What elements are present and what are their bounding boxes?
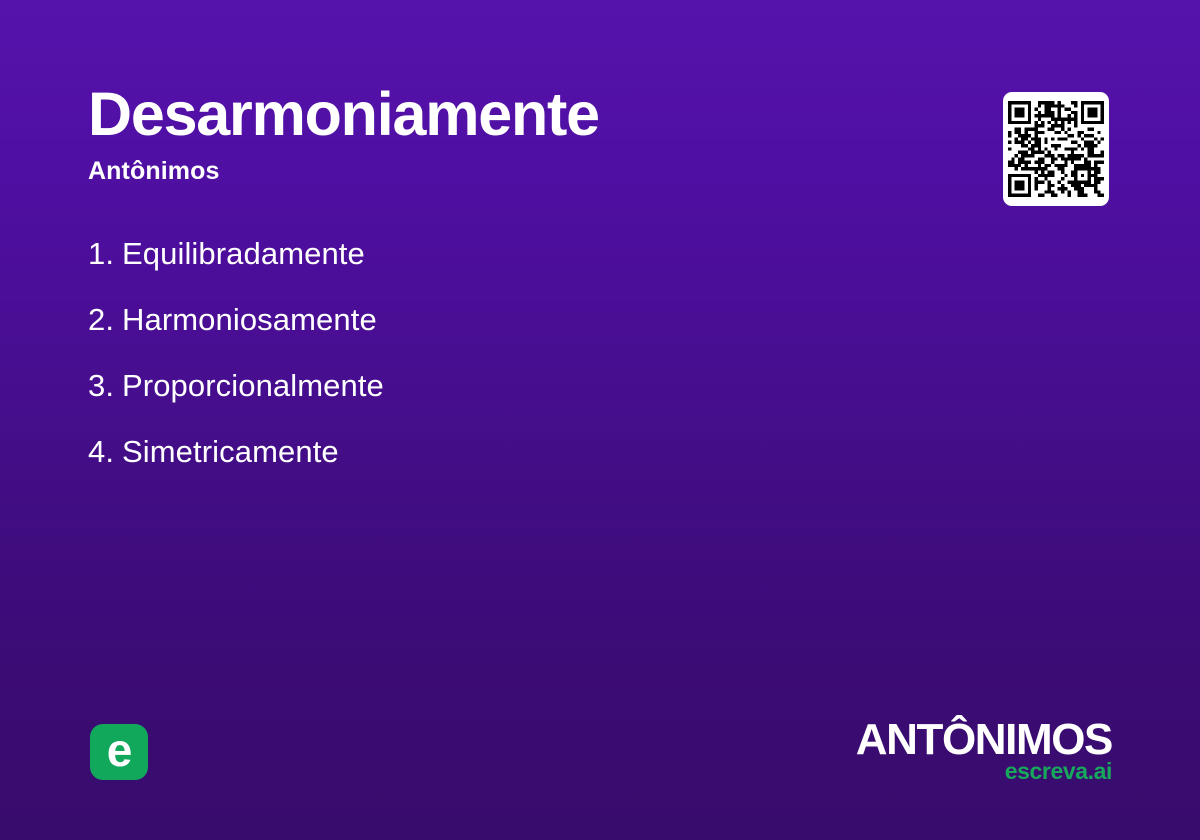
- qr-code-icon: [1008, 101, 1104, 197]
- headline-block: Desarmoniamente Antônimos: [88, 82, 808, 186]
- list-item-number: 3.: [88, 368, 122, 404]
- escreva-e-logo-icon[interactable]: e: [90, 724, 148, 780]
- qr-code-card[interactable]: [1003, 92, 1109, 206]
- list-item-number: 1.: [88, 236, 122, 272]
- list-item-number: 2.: [88, 302, 122, 338]
- antonimos-logo: ANTÔNIMOS escreva.ai: [856, 718, 1112, 784]
- page-title: Desarmoniamente: [88, 82, 808, 148]
- list-item: 2. Harmoniosamente: [88, 302, 908, 368]
- list-item: 4. Simetricamente: [88, 434, 908, 500]
- list-item-number: 4.: [88, 434, 122, 470]
- logo-wordmark: ANTÔNIMOS: [856, 718, 1112, 762]
- list-item-term: Proporcionalmente: [122, 368, 384, 404]
- antonyms-card: Desarmoniamente Antônimos 1. Equilibrada…: [0, 0, 1200, 840]
- antonyms-list: 1. Equilibradamente 2. Harmoniosamente 3…: [88, 236, 908, 500]
- list-item-term: Simetricamente: [122, 434, 339, 470]
- brand-mark-glyph: e: [107, 727, 132, 773]
- list-item: 1. Equilibradamente: [88, 236, 908, 302]
- list-item-term: Harmoniosamente: [122, 302, 377, 338]
- list-item-term: Equilibradamente: [122, 236, 365, 272]
- page-subtitle: Antônimos: [88, 156, 808, 186]
- list-item: 3. Proporcionalmente: [88, 368, 908, 434]
